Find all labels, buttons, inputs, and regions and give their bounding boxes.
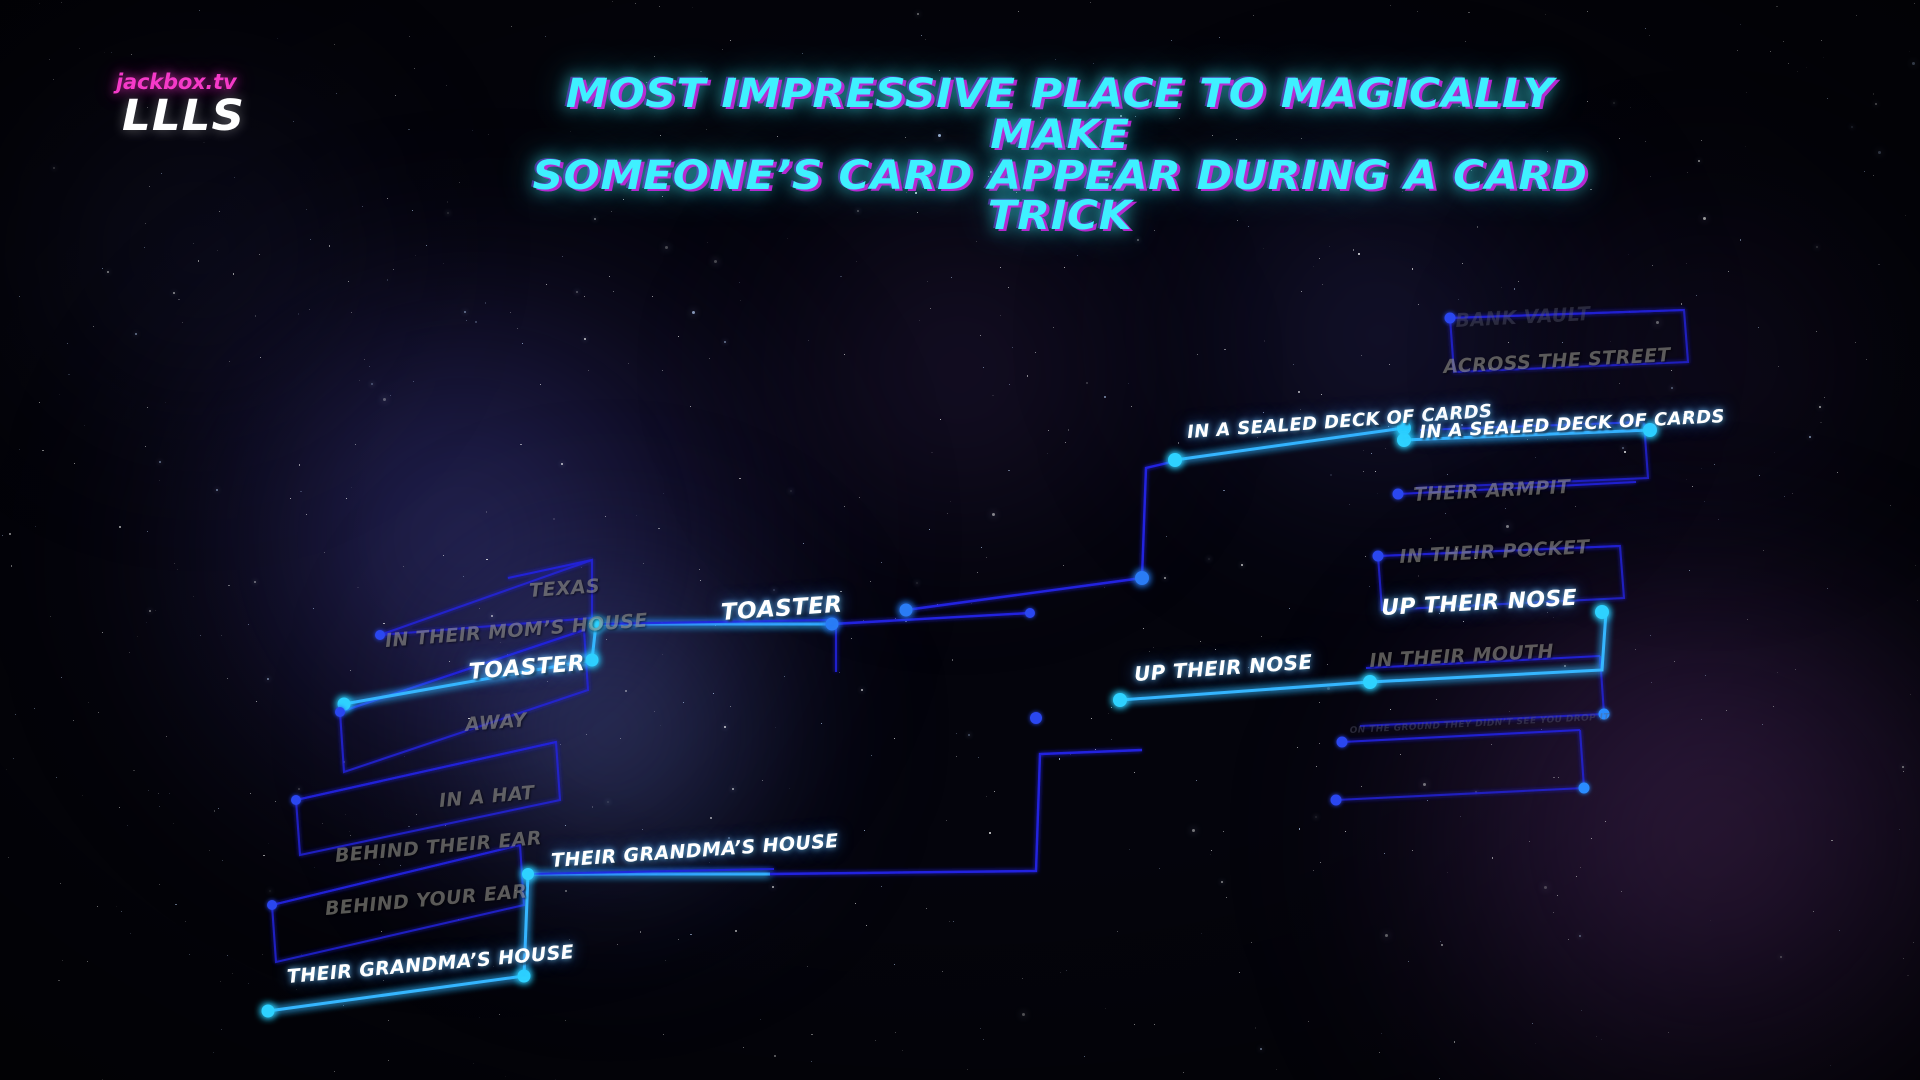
final-connectors (770, 460, 1180, 874)
jackbox-logo: jackbox.tv LLLS (113, 70, 343, 137)
game-title-llls: LLLS (122, 95, 354, 137)
bracket-stage: jackbox.tv LLLS MOST IMPRESSIVE PLACE TO… (0, 0, 1920, 1080)
prompt-title: MOST IMPRESSIVE PLACE TO MAGICALLY MAKE … (530, 74, 1590, 237)
